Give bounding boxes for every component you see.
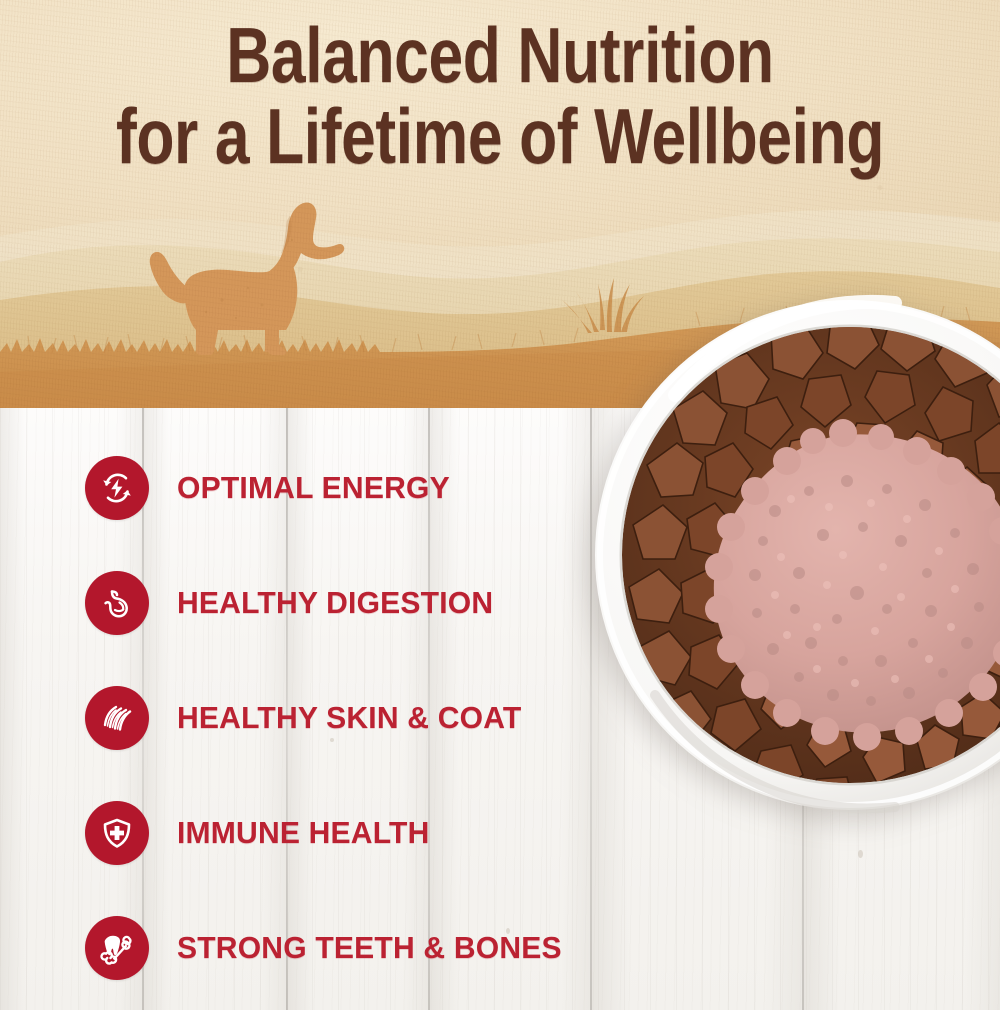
benefit-item-immune-health[interactable]: IMMUNE HEALTH xyxy=(85,801,437,865)
poster-root: Balanced Nutrition for a Lifetime of Wel… xyxy=(0,0,1000,1010)
stomach-icon xyxy=(85,571,149,635)
benefit-item-optimal-energy[interactable]: OPTIMAL ENERGY xyxy=(85,456,458,520)
energy-bolt-cycle-icon xyxy=(85,456,149,520)
benefit-label: HEALTHY SKIN & COAT xyxy=(177,700,521,736)
wood-speck xyxy=(858,850,863,858)
benefit-label: HEALTHY DIGESTION xyxy=(177,585,493,621)
fur-strands-icon xyxy=(85,686,149,750)
benefit-item-strong-teeth-bones[interactable]: STRONG TEETH & BONES xyxy=(85,916,574,980)
benefit-item-healthy-digestion[interactable]: HEALTHY DIGESTION xyxy=(85,571,503,635)
benefit-label: STRONG TEETH & BONES xyxy=(177,930,562,966)
title-line-2: for a Lifetime of Wellbeing xyxy=(100,99,900,174)
benefits-list: OPTIMAL ENERGY HEALTHY DIGESTION xyxy=(0,408,660,1010)
tooth-bone-icon xyxy=(85,916,149,980)
page-title: Balanced Nutrition for a Lifetime of Wel… xyxy=(0,18,1000,174)
shield-cross-icon xyxy=(85,801,149,865)
benefit-item-healthy-skin-coat[interactable]: HEALTHY SKIN & COAT xyxy=(85,686,532,750)
title-line-1: Balanced Nutrition xyxy=(100,18,900,93)
benefit-label: IMMUNE HEALTH xyxy=(177,815,430,851)
benefit-label: OPTIMAL ENERGY xyxy=(177,470,450,506)
